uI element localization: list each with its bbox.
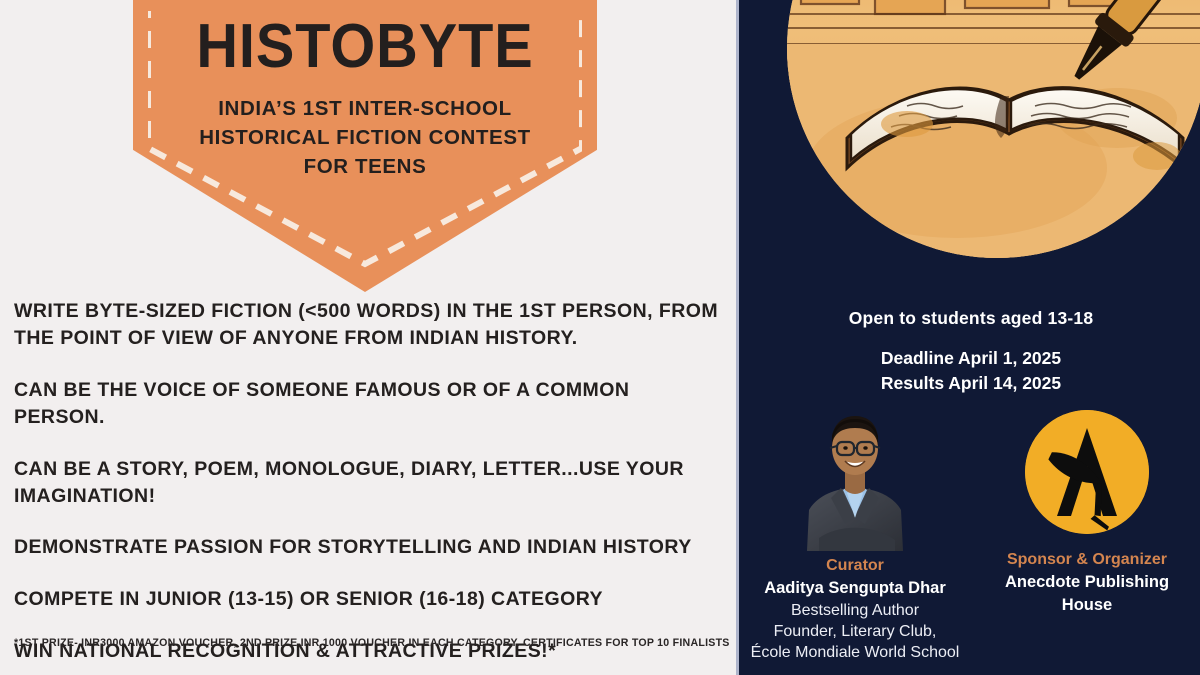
subtitle-line-3: FOR TEENS xyxy=(133,152,597,181)
title-banner: HISTOBYTE INDIA’S 1ST INTER-SCHOOL HISTO… xyxy=(133,0,597,292)
poster-title: HISTOBYTE xyxy=(149,16,581,78)
curator-role-label: Curator xyxy=(739,556,971,577)
open-book-with-fountain-pen-icon xyxy=(787,0,1200,258)
anecdote-publishing-a-quill-logo-icon xyxy=(1025,410,1149,534)
sponsor-block: Sponsor & Organizer Anecdote Publishing … xyxy=(971,398,1200,616)
curator-portrait-photo xyxy=(795,398,915,551)
curator-affiliation-2: École Mondiale World School xyxy=(739,642,971,663)
rule-item: CAN BE A STORY, POEM, MONOLOGUE, DIARY, … xyxy=(14,456,726,510)
banner-text: HISTOBYTE INDIA’S 1ST INTER-SCHOOL HISTO… xyxy=(133,0,597,181)
sponsor-name-line-2: House xyxy=(971,595,1200,617)
poster-canvas: HISTOBYTE INDIA’S 1ST INTER-SCHOOL HISTO… xyxy=(0,0,1200,675)
curator-title: Bestselling Author xyxy=(739,600,971,621)
contest-rules-list: WRITE BYTE-SIZED FICTION (<500 WORDS) IN… xyxy=(14,298,726,665)
credits-row: Curator Aaditya Sengupta Dhar Bestsellin… xyxy=(739,398,1200,663)
rule-item: COMPETE IN JUNIOR (13-15) OR SENIOR (16-… xyxy=(14,586,726,613)
curator-block: Curator Aaditya Sengupta Dhar Bestsellin… xyxy=(739,398,971,663)
deadline-text: Deadline April 1, 2025 xyxy=(739,346,1200,371)
poster-subtitle: INDIA’S 1ST INTER-SCHOOL HISTORICAL FICT… xyxy=(133,94,597,181)
sponsor-role-label: Sponsor & Organizer xyxy=(971,550,1200,571)
left-content-panel: HISTOBYTE INDIA’S 1ST INTER-SCHOOL HISTO… xyxy=(0,0,736,675)
curator-name: Aaditya Sengupta Dhar xyxy=(739,578,971,600)
key-dates-block: Open to students aged 13-18 Deadline Apr… xyxy=(739,308,1200,397)
rule-item: WRITE BYTE-SIZED FICTION (<500 WORDS) IN… xyxy=(14,298,726,352)
rule-item: DEMONSTRATE PASSION FOR STORYTELLING AND… xyxy=(14,534,726,561)
subtitle-line-2: HISTORICAL FICTION CONTEST xyxy=(133,123,597,152)
sponsor-name-line-1: Anecdote Publishing xyxy=(971,572,1200,594)
eligibility-text: Open to students aged 13-18 xyxy=(739,308,1200,329)
results-text: Results April 14, 2025 xyxy=(739,371,1200,396)
curator-affiliation-1: Founder, Literary Club, xyxy=(739,621,971,642)
subtitle-line-1: INDIA’S 1ST INTER-SCHOOL xyxy=(133,94,597,123)
rule-item: CAN BE THE VOICE OF SOMEONE FAMOUS OR OF… xyxy=(14,377,726,431)
right-info-panel: Open to students aged 13-18 Deadline Apr… xyxy=(736,0,1200,675)
prize-footnote: *1ST PRIZE- INR3000 AMAZON VOUCHER, 2ND … xyxy=(14,637,729,649)
